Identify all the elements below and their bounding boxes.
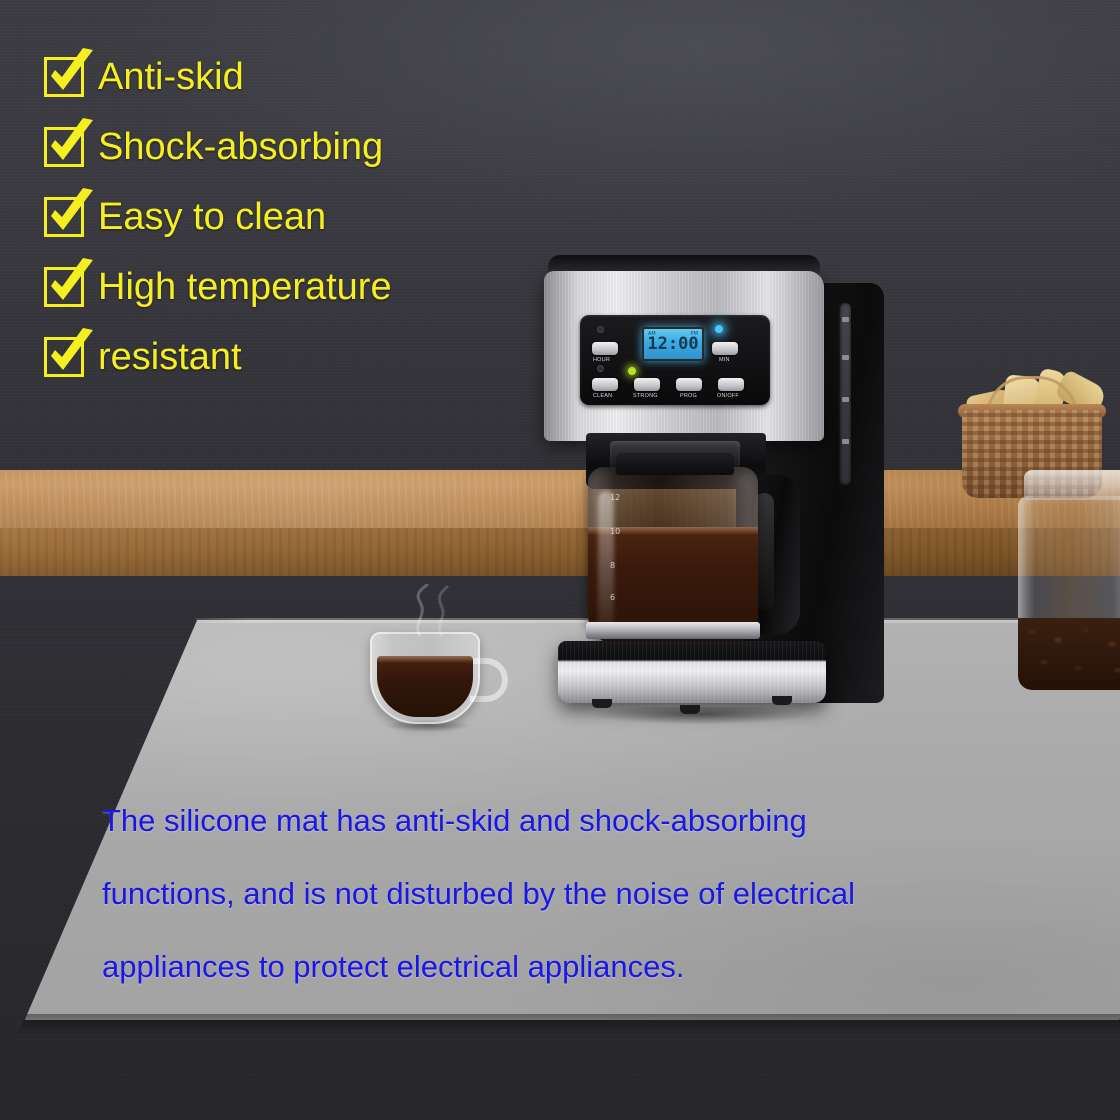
indicator-dot-bottom [597,365,604,372]
steam-icon [398,584,468,638]
feature-item: Easy to clean [44,192,514,242]
clean-button[interactable] [592,378,618,391]
hour-button[interactable] [592,342,618,355]
check-mark-icon [43,258,95,308]
carafe-level-markings: 12 10 8 6 4 [610,493,632,643]
carafe-lid[interactable] [616,453,734,475]
brew-led-icon [628,367,636,375]
feature-item: High temperature [44,262,514,312]
feature-label: Anti-skid [98,55,244,99]
carafe-glass-body: 12 10 8 6 4 [588,467,758,645]
strong-button[interactable] [634,378,660,391]
checkbox-checked-icon [44,197,84,237]
coffee-maker: AM PM 12:00 HOUR MIN CLEAN STRONG PROG [540,255,885,745]
jar-glass-body [1018,496,1120,690]
indicator-dot-top [597,326,604,333]
on-off-button[interactable] [718,378,744,391]
coffee-cup [362,622,512,730]
feature-label: resistant [98,335,242,379]
feature-item: Shock-absorbing [44,122,514,172]
glass-carafe[interactable]: 12 10 8 6 4 [588,453,766,653]
coffee-maker-base [558,641,826,703]
caption-line: functions, and is not disturbed by the n… [102,857,1102,930]
rubber-foot [680,705,700,714]
water-level-gauge [840,303,851,485]
clean-button-label: CLEAN [593,393,612,399]
product-feature-image: AM PM 12:00 HOUR MIN CLEAN STRONG PROG [0,0,1120,1120]
lcd-am-tag: AM [648,331,656,337]
checkbox-checked-icon [44,267,84,307]
cup-coffee-liquid [377,656,473,717]
min-button[interactable] [712,342,738,355]
cup-glass-body [370,632,480,724]
caption-line: The silicone mat has anti-skid and shock… [102,784,1102,857]
carafe-mark: 12 [610,493,620,502]
prog-button[interactable] [676,378,702,391]
coffee-maker-head: AM PM 12:00 HOUR MIN CLEAN STRONG PROG [544,271,824,441]
hour-button-label: HOUR [593,357,610,363]
lcd-display: AM PM 12:00 [642,327,704,361]
power-led-icon [715,325,723,333]
control-panel[interactable]: AM PM 12:00 HOUR MIN CLEAN STRONG PROG [580,315,770,405]
rubber-foot [772,696,792,705]
jar-lid-rim [1024,470,1120,500]
caption-line: appliances to protect electrical applian… [102,930,1102,1003]
min-button-label: MIN [719,357,730,363]
checkbox-checked-icon [44,337,84,377]
carafe-mark: 8 [610,561,615,570]
feature-label: Shock-absorbing [98,125,383,169]
carafe-mark: 6 [610,593,615,602]
check-mark-icon [43,48,95,98]
coffee-maker-shadow [550,707,850,731]
on-off-button-label: ON/OFF [717,393,739,399]
feature-item: Anti-skid [44,52,514,102]
carafe-metal-band [586,622,760,639]
check-mark-icon [43,118,95,168]
mat-bottom-shadow [0,1014,1120,1036]
feature-item: resistant [44,332,514,382]
rubber-foot [592,699,612,708]
prog-button-label: PROG [680,393,697,399]
strong-button-label: STRONG [633,393,658,399]
feature-checklist: Anti-skid Shock-absorbing Easy to clean [44,52,514,382]
coffee-bean-jar [1018,470,1120,690]
feature-label: High temperature [98,265,392,309]
lcd-pm-tag: PM [691,331,698,337]
coffee-beans [1018,618,1120,690]
check-mark-icon [43,328,95,378]
description-caption: The silicone mat has anti-skid and shock… [102,784,1102,1003]
check-mark-icon [43,188,95,238]
feature-label: Easy to clean [98,195,326,239]
lcd-clock-time: 12:00 [647,336,698,353]
checkbox-checked-icon [44,57,84,97]
carafe-mark: 10 [610,527,620,536]
checkbox-checked-icon [44,127,84,167]
